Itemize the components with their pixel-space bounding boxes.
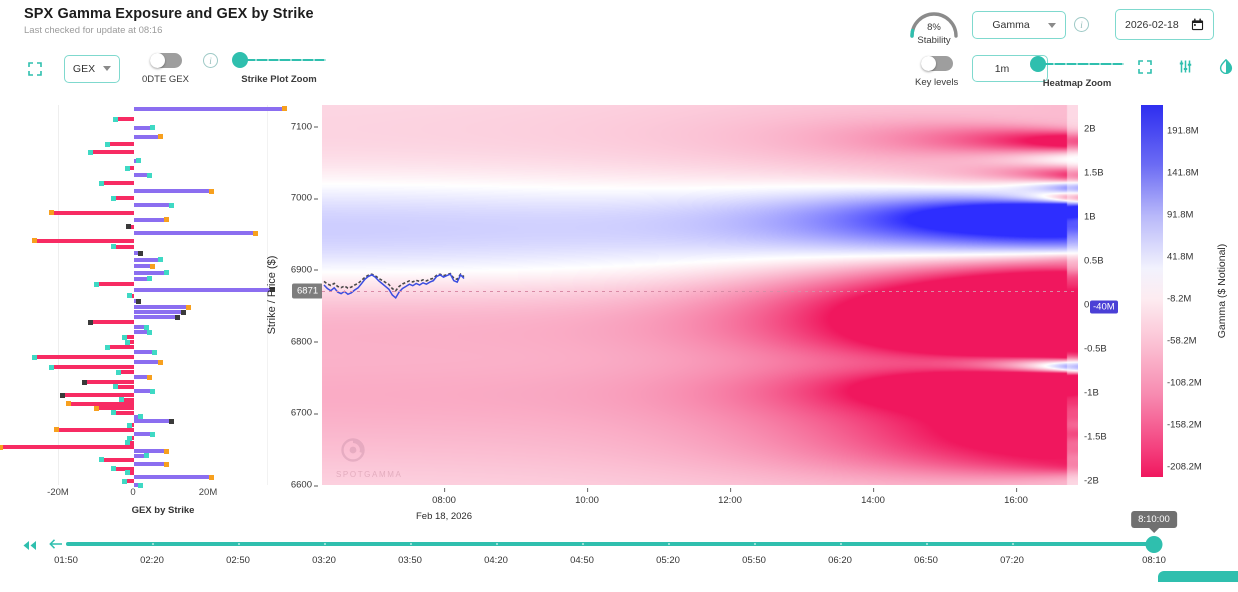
timeline-tick-dot (324, 543, 326, 545)
gex-bar-marker (122, 479, 127, 484)
gamma-type-value: Gamma (982, 19, 1040, 31)
gex-bar-marker (150, 389, 155, 394)
gex-bar[interactable] (134, 258, 162, 262)
gamma-value-badge: -40M (1090, 301, 1118, 314)
timeline-tick-dot (926, 543, 928, 545)
gex-bar[interactable] (134, 251, 142, 255)
current-price-line (322, 291, 1078, 292)
current-price-badge: 6871 (292, 283, 323, 298)
watermark-text: SPOTGAMMA (336, 470, 402, 479)
timeline-progress-bar (1158, 571, 1238, 582)
gamma-notional-tick: -1B (1084, 388, 1099, 399)
gex-bar[interactable] (134, 325, 148, 329)
gex-bar-marker (164, 462, 169, 467)
strike-plot-zoom-group: Strike Plot Zoom (232, 52, 326, 85)
gex-bar[interactable] (134, 299, 140, 303)
slider-thumb[interactable] (232, 52, 248, 68)
timeline-tick-dot (496, 543, 498, 545)
gex-bar[interactable] (89, 150, 134, 154)
timeline-tick-label: 07:20 (1000, 555, 1024, 566)
plot-area: -20M020M GEX by Strike 71007000690068006… (0, 105, 1238, 505)
gex-bar[interactable] (134, 330, 151, 334)
gamma-notional-tick: 0.5B (1084, 256, 1104, 267)
strike-plot-zoom-slider[interactable] (232, 52, 326, 68)
key-levels-toggle-group: Key levels (915, 56, 958, 88)
gex-bar[interactable] (112, 245, 134, 249)
gex-bar-marker (111, 466, 116, 471)
timeline-tick-dot (754, 543, 756, 545)
gex-bar[interactable] (112, 196, 134, 200)
gex-bar[interactable] (114, 117, 134, 121)
timeline-tick-dot (1012, 543, 1014, 545)
heatmap-zoom-slider[interactable] (1030, 56, 1124, 72)
gex-bar[interactable] (134, 475, 213, 479)
timeline-tick-label: 01:50 (54, 555, 78, 566)
colorbar-tick: 191.8M (1167, 126, 1199, 137)
gamma-info-icon[interactable]: i (1074, 17, 1089, 32)
gex-bar-marker (158, 360, 163, 365)
timeline-tick-label: 05:20 (656, 555, 680, 566)
page-header: SPX Gamma Exposure and GEX by Strike Las… (24, 6, 314, 36)
gex-bar[interactable] (134, 419, 173, 423)
timeline-tick-dot (410, 543, 412, 545)
gex-bar-marker (169, 203, 174, 208)
timeline-tick-label: 03:50 (398, 555, 422, 566)
gex-bar[interactable] (134, 189, 213, 193)
odte-gex-toggle-group: 0DTE GEX (142, 53, 189, 85)
chevron-down-icon (103, 66, 111, 71)
left-toolbar: GEX 0DTE GEX i Strike Plot Zoom (24, 52, 326, 85)
gex-bar-marker (105, 345, 110, 350)
odte-gex-toggle[interactable] (150, 53, 182, 68)
timeline-tick-label: 08:10 (1142, 555, 1166, 566)
gamma-notional-axis: 2B1.5B1B0.5B0-0.5B-1B-1.5B-2B (1080, 105, 1136, 485)
gex-bar-marker (147, 173, 152, 178)
colorbar-tick: 91.8M (1167, 210, 1193, 221)
gex-bar-marker (82, 380, 87, 385)
gamma-colorbar (1141, 105, 1163, 477)
gex-bar-marker (126, 224, 131, 229)
timeline-tick-dot (582, 543, 584, 545)
gex-bar[interactable] (134, 203, 173, 207)
gex-bar[interactable] (134, 375, 151, 379)
gex-bar-marker (99, 181, 104, 186)
stability-label: Stability (905, 35, 963, 46)
time-x-tick: 08:00 (432, 495, 456, 506)
gex-bar[interactable] (33, 239, 134, 243)
gex-bar[interactable] (126, 471, 134, 475)
gex-bar[interactable] (55, 428, 134, 432)
gex-bar-marker (125, 340, 130, 345)
gex-bar[interactable] (126, 166, 134, 170)
gex-bar-marker (158, 134, 163, 139)
page-title: SPX Gamma Exposure and GEX by Strike (24, 6, 314, 22)
gex-bar[interactable] (134, 310, 185, 314)
gex-bar-marker (105, 142, 110, 147)
gex-bar[interactable] (134, 432, 154, 436)
gex-bar[interactable] (134, 305, 190, 309)
colorbar-tick: -108.2M (1167, 378, 1202, 389)
gamma-type-select[interactable]: Gamma (972, 11, 1066, 39)
gex-bar[interactable] (106, 142, 134, 146)
gex-x-tick: 20M (199, 487, 217, 498)
interval-value: 1m (982, 63, 1022, 75)
gex-bar-marker (152, 350, 157, 355)
gex-bar-marker (127, 293, 132, 298)
gex-bar-marker (169, 419, 174, 424)
gex-bar[interactable] (134, 173, 151, 177)
gex-bar-marker (0, 445, 3, 450)
slider-thumb[interactable] (1030, 56, 1046, 72)
timeline-tick-dot (238, 543, 240, 545)
gex-bar[interactable] (134, 277, 151, 281)
gex-bar-marker (94, 282, 99, 287)
gex-bar[interactable] (123, 335, 134, 339)
price-line (322, 105, 1078, 485)
gex-bar-marker (147, 375, 152, 380)
contrast-icon[interactable] (1219, 59, 1233, 74)
gex-bar-marker (147, 276, 152, 281)
gex-bar[interactable] (33, 355, 134, 359)
timeline-tick-dot (840, 543, 842, 545)
gex-bar[interactable] (126, 340, 134, 344)
gex-bar-marker (164, 217, 169, 222)
gex-bar-marker (99, 457, 104, 462)
gex-bar[interactable] (0, 445, 134, 449)
gex-bar[interactable] (106, 345, 134, 349)
gex-bar-marker (150, 125, 155, 130)
fullscreen-icon[interactable] (24, 58, 46, 80)
gex-bar-marker (164, 270, 169, 275)
gex-bar[interactable] (117, 370, 134, 374)
gex-bar-marker (164, 449, 169, 454)
gex-x-tick: 0 (130, 487, 135, 498)
gamma-notional-tick: -1.5B (1084, 432, 1107, 443)
gex-bar[interactable] (100, 458, 134, 462)
gex-bar-marker (181, 310, 186, 315)
timeline-tick-dot (668, 543, 670, 545)
gex-bar[interactable] (134, 107, 286, 111)
gex-bar-marker (138, 251, 143, 256)
timeline-tick-label: 05:50 (742, 555, 766, 566)
gamma-colorbar-title: Gamma ($ Notional) (1216, 244, 1228, 339)
arrow-left-icon[interactable] (49, 537, 63, 553)
gex-bar[interactable] (50, 211, 134, 215)
gex-bar[interactable] (114, 385, 134, 389)
gex-bar-marker (88, 320, 93, 325)
timeline-thumb[interactable] (1146, 536, 1163, 553)
gex-bar-marker (111, 196, 116, 201)
gamma-notional-tick: 1.5B (1084, 168, 1104, 179)
gex-bar-marker (138, 483, 143, 488)
time-x-tick: 16:00 (1004, 495, 1028, 506)
chevron-down-icon (1048, 23, 1056, 28)
timeline-tick-label: 02:20 (140, 555, 164, 566)
timeline-tooltip: 8:10:00 (1131, 511, 1177, 528)
gex-bar[interactable] (134, 264, 154, 268)
strike-y-tick: 6800 (291, 336, 312, 347)
gex-bar-marker (60, 393, 65, 398)
gex-bar-marker (49, 365, 54, 370)
gex-bar[interactable] (50, 365, 134, 369)
gex-bar[interactable] (127, 225, 134, 229)
settings-sliders-icon[interactable] (1178, 59, 1193, 74)
gex-bar-marker (125, 470, 130, 475)
time-x-tick: 14:00 (861, 495, 885, 506)
colorbar-tick: -58.2M (1167, 336, 1197, 347)
heatmap-zoom-label: Heatmap Zoom (1043, 78, 1112, 89)
gex-bar[interactable] (100, 181, 134, 185)
gex-bar-marker (209, 189, 214, 194)
last-checked-status: Last checked for update at 08:16 (24, 25, 314, 36)
gex-bar[interactable] (128, 294, 134, 298)
date-picker[interactable]: 2026-02-18 (1115, 9, 1214, 40)
gex-bar-marker (32, 355, 37, 360)
gex-bar[interactable] (134, 126, 154, 130)
calendar-icon (1191, 18, 1204, 31)
gex-bar[interactable] (134, 350, 156, 354)
gex-bar[interactable] (134, 218, 168, 222)
gex-bar-marker (144, 453, 149, 458)
colorbar-tick: -208.2M (1167, 462, 1202, 473)
gex-bar-marker (175, 315, 180, 320)
gex-bar-marker (116, 370, 121, 375)
gex-bar[interactable] (134, 159, 140, 163)
rewind-icon[interactable] (22, 538, 38, 556)
timeline-tick-label: 03:20 (312, 555, 336, 566)
gex-bar-marker (253, 231, 258, 236)
colorbar-tick: -158.2M (1167, 420, 1202, 431)
gex-by-strike-chart[interactable] (58, 105, 268, 485)
metric-select[interactable]: GEX (64, 55, 120, 83)
odte-gex-label: 0DTE GEX (142, 74, 189, 85)
time-x-axis: 08:0010:0012:0014:0016:00Feb 18, 2026 (322, 487, 1078, 517)
gex-bar-marker (113, 384, 118, 389)
strike-y-tick: 6900 (291, 264, 312, 275)
timeline-ticks (66, 543, 1158, 545)
gex-bar-marker (136, 299, 141, 304)
gex-bar[interactable] (134, 454, 148, 458)
gex-bar[interactable] (134, 231, 257, 235)
gamma-notional-tick: 1B (1084, 212, 1096, 223)
gex-bar[interactable] (134, 135, 162, 139)
toggle-knob (921, 56, 936, 71)
playback-timeline: 8:10:00 01:5002:2002:5003:2003:5004:2004… (0, 525, 1238, 592)
gex-x-axis-title: GEX by Strike (58, 505, 268, 516)
gex-bar-marker (136, 158, 141, 163)
colorbar-tick: 141.8M (1167, 168, 1199, 179)
gex-bar-marker (32, 238, 37, 243)
gex-bar-marker (158, 257, 163, 262)
strike-plot-zoom-label: Strike Plot Zoom (241, 74, 316, 85)
gex-bar-marker (147, 330, 152, 335)
strike-y-tick: 6700 (291, 408, 312, 419)
time-x-tick: 12:00 (718, 495, 742, 506)
gex-bar-marker (54, 427, 59, 432)
toggle-knob (150, 53, 165, 68)
gex-x-tick: -20M (47, 487, 69, 498)
heatmap-zoom-group: Heatmap Zoom (1030, 56, 1124, 89)
gex-bar[interactable] (134, 389, 154, 393)
gex-bar[interactable] (134, 288, 274, 292)
heatmap-icon-buttons (1138, 59, 1233, 74)
strike-y-tick: 7000 (291, 193, 312, 204)
stability-value: 8% (905, 22, 963, 33)
gamma-heatmap[interactable]: SPOTGAMMA (322, 105, 1078, 485)
stability-gauge: 8% Stability (905, 6, 963, 43)
colorbar-tick: 41.8M (1167, 252, 1193, 263)
timeline-tick-label: 02:50 (226, 555, 250, 566)
gex-bar-marker (150, 432, 155, 437)
x-axis-date-label: Feb 18, 2026 (416, 511, 472, 522)
gex-bar[interactable] (112, 411, 134, 415)
timeline-tick-label: 06:50 (914, 555, 938, 566)
spotgamma-logo-icon (340, 437, 366, 463)
timeline-tick-label: 04:20 (484, 555, 508, 566)
metric-select-value: GEX (73, 63, 95, 75)
gex-bar-marker (150, 264, 155, 269)
colorbar-tick: -8.2M (1167, 294, 1191, 305)
gamma-notional-tick: 2B (1084, 124, 1096, 135)
gex-bar[interactable] (134, 360, 162, 364)
gex-bar-marker (111, 244, 116, 249)
fullscreen-icon[interactable] (1138, 59, 1152, 74)
gex-bar[interactable] (134, 462, 168, 466)
gex-bar-marker (186, 305, 191, 310)
info-icon[interactable]: i (203, 53, 218, 68)
strike-y-tick: 7100 (291, 121, 312, 132)
gex-bar-marker (94, 406, 99, 411)
timeline-tick-label: 06:20 (828, 555, 852, 566)
gex-bar[interactable] (89, 320, 134, 324)
gex-bar[interactable] (134, 315, 179, 319)
timeline-tick-dot (152, 543, 154, 545)
gex-bar-marker (113, 117, 118, 122)
gex-bar-marker (111, 410, 116, 415)
gamma-notional-tick: -2B (1084, 476, 1099, 487)
gex-bar-marker (209, 475, 214, 480)
key-levels-toggle[interactable] (921, 56, 953, 71)
gex-bar-marker (88, 150, 93, 155)
time-x-tick: 10:00 (575, 495, 599, 506)
gex-bar[interactable] (134, 271, 168, 275)
gex-bar-marker (49, 210, 54, 215)
gex-bar[interactable] (123, 479, 134, 483)
gex-bar-marker (125, 166, 130, 171)
spot-price-line (324, 274, 464, 298)
gamma-notional-tick: 0 (1084, 300, 1089, 311)
date-value: 2026-02-18 (1125, 19, 1179, 31)
gex-bar[interactable] (95, 282, 134, 286)
strike-y-tick: 6600 (291, 480, 312, 491)
timeline-tick-label: 04:50 (570, 555, 594, 566)
gex-bar-marker (66, 401, 71, 406)
gamma-notional-tick: -0.5B (1084, 344, 1107, 355)
strike-price-axis-title: Strike / Price ($) (266, 256, 278, 335)
key-levels-label: Key levels (915, 77, 958, 88)
